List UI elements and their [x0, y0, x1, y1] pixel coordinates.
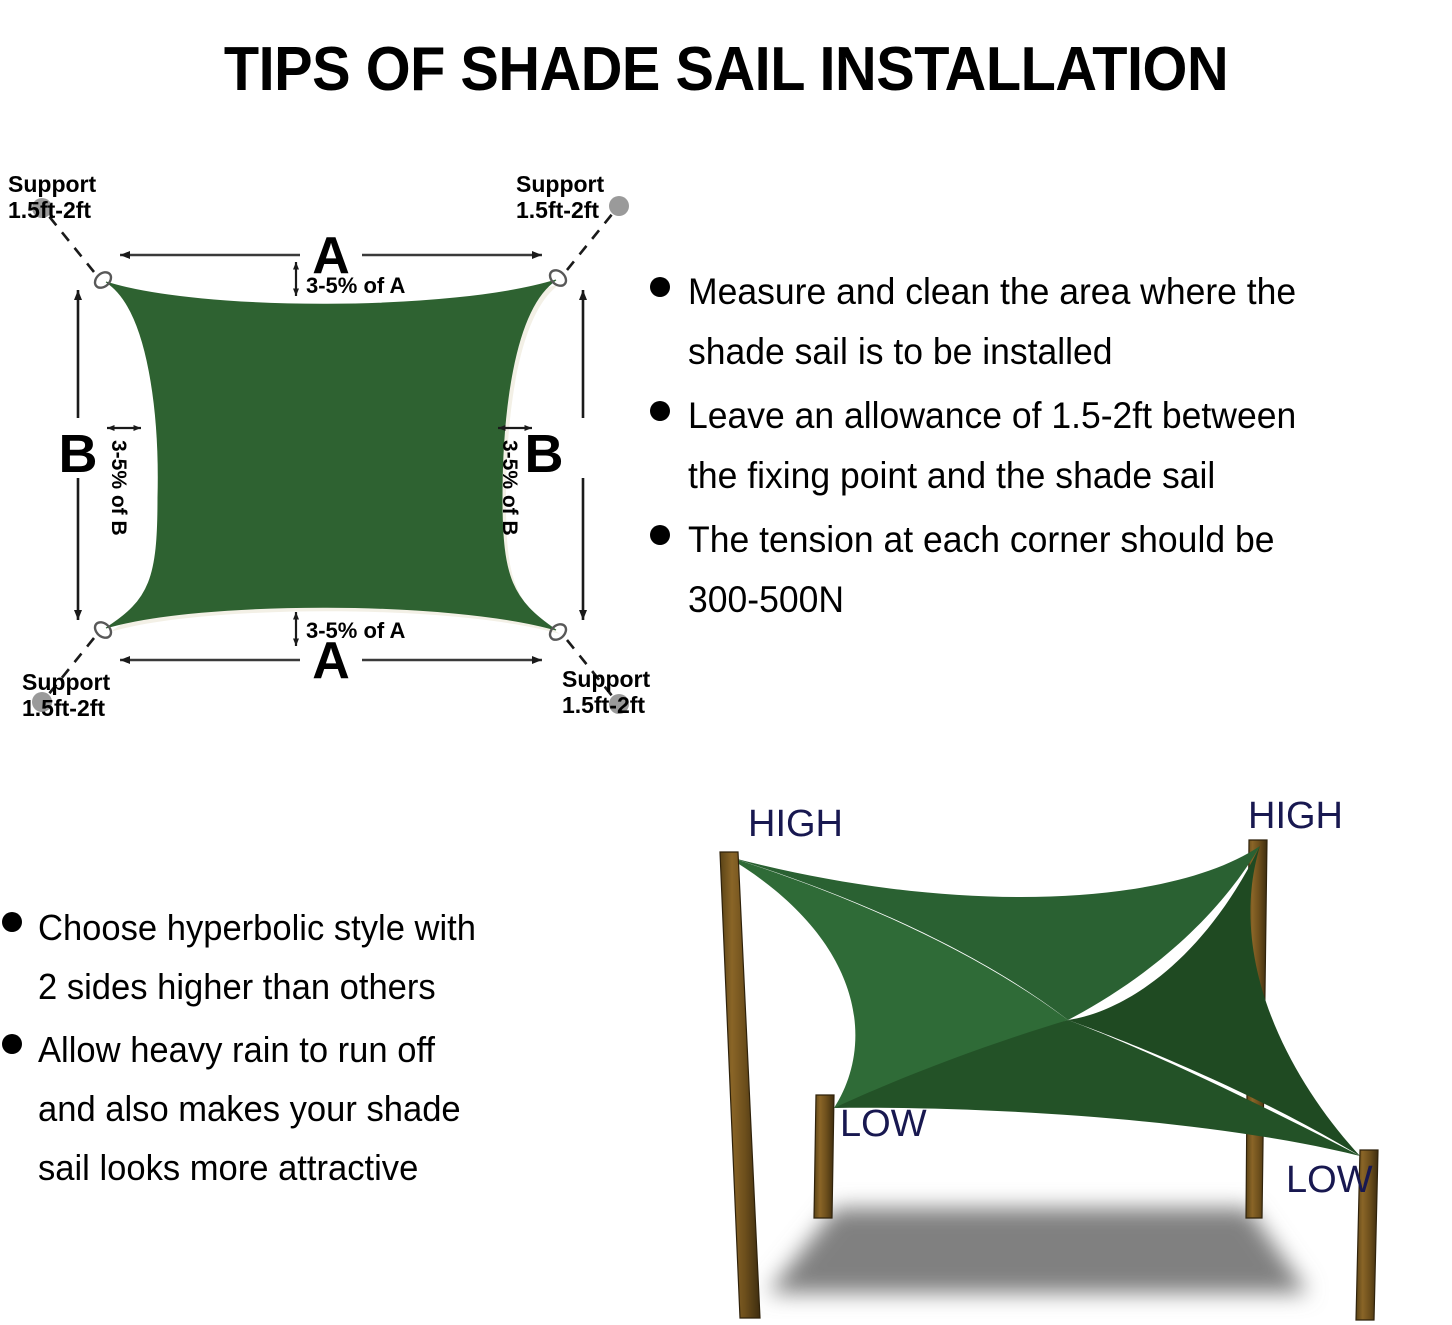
- support-label-bottom-right-line2: 1.5ft-2ft: [562, 692, 645, 718]
- ground-shadow: [768, 1208, 1308, 1293]
- shade-sail-dimension-diagram: Support 1.5ft-2ft Support 1.5ft-2ft Supp…: [0, 160, 660, 740]
- curve-depth-a-bottom-label: 3-5% of A: [306, 618, 406, 643]
- label-high-left: HIGH: [748, 803, 843, 845]
- support-label-top-left-line1: Support: [8, 171, 96, 197]
- page-title: TIPS OF SHADE SAIL INSTALLATION: [51, 36, 1401, 104]
- dimension-b-right-label: B: [525, 424, 564, 484]
- bullet-dot-icon: [650, 525, 670, 545]
- support-label-top-right-line2: 1.5ft-2ft: [516, 197, 599, 223]
- support-label-bottom-left-line1: Support: [22, 669, 110, 695]
- support-label-bottom-left-line2: 1.5ft-2ft: [22, 695, 105, 721]
- list-item: Allow heavy rain to run off and also mak…: [2, 1020, 642, 1197]
- list-item: Leave an allowance of 1.5-2ft between th…: [650, 386, 1452, 506]
- support-label-top-left-line2: 1.5ft-2ft: [8, 197, 91, 223]
- label-high-right: HIGH: [1248, 795, 1343, 837]
- support-label-top-right-line1: Support: [516, 171, 604, 197]
- support-dot-top-right: [609, 196, 629, 216]
- bullet-dot-icon: [650, 277, 670, 297]
- installation-tips-list: Measure and clean the area where the sha…: [650, 262, 1452, 634]
- dimension-b-right: B: [525, 290, 584, 620]
- list-item: Choose hyperbolic style with 2 sides hig…: [2, 898, 642, 1016]
- list-item-label: The tension at each corner should be 300…: [688, 510, 1274, 630]
- list-item: The tension at each corner should be 300…: [650, 510, 1452, 630]
- label-low-right: LOW: [1286, 1159, 1373, 1201]
- curve-depth-b-left: 3-5% of B: [107, 428, 141, 536]
- hyperbolic-shade-sail-illustration: HIGH HIGH LOW LOW: [648, 788, 1452, 1325]
- label-low-left: LOW: [840, 1103, 927, 1145]
- post-low-left: [814, 1095, 834, 1218]
- sail-shape: [106, 280, 560, 634]
- list-item-label: Allow heavy rain to run off and also mak…: [38, 1020, 461, 1197]
- list-item: Measure and clean the area where the sha…: [650, 262, 1452, 382]
- bullet-dot-icon: [2, 1034, 22, 1054]
- curve-depth-b-left-label: 3-5% of B: [107, 440, 130, 536]
- dimension-b-left: B: [59, 290, 98, 620]
- hyperbolic-style-tips-list: Choose hyperbolic style with 2 sides hig…: [2, 898, 642, 1201]
- tether-line-top-left: [48, 215, 94, 272]
- curve-depth-a-bottom: 3-5% of A: [296, 612, 406, 646]
- curve-depth-b-right-label: 3-5% of B: [498, 440, 521, 536]
- curve-depth-a-top-label: 3-5% of A: [306, 273, 406, 298]
- list-item-label: Measure and clean the area where the sha…: [688, 262, 1296, 382]
- dimension-b-left-label: B: [59, 424, 98, 484]
- list-item-label: Choose hyperbolic style with 2 sides hig…: [38, 898, 476, 1016]
- list-item-label: Leave an allowance of 1.5-2ft between th…: [688, 386, 1296, 506]
- bullet-dot-icon: [2, 912, 22, 932]
- bullet-dot-icon: [650, 401, 670, 421]
- support-label-bottom-right-line1: Support: [562, 666, 650, 692]
- post-high-left: [720, 852, 760, 1318]
